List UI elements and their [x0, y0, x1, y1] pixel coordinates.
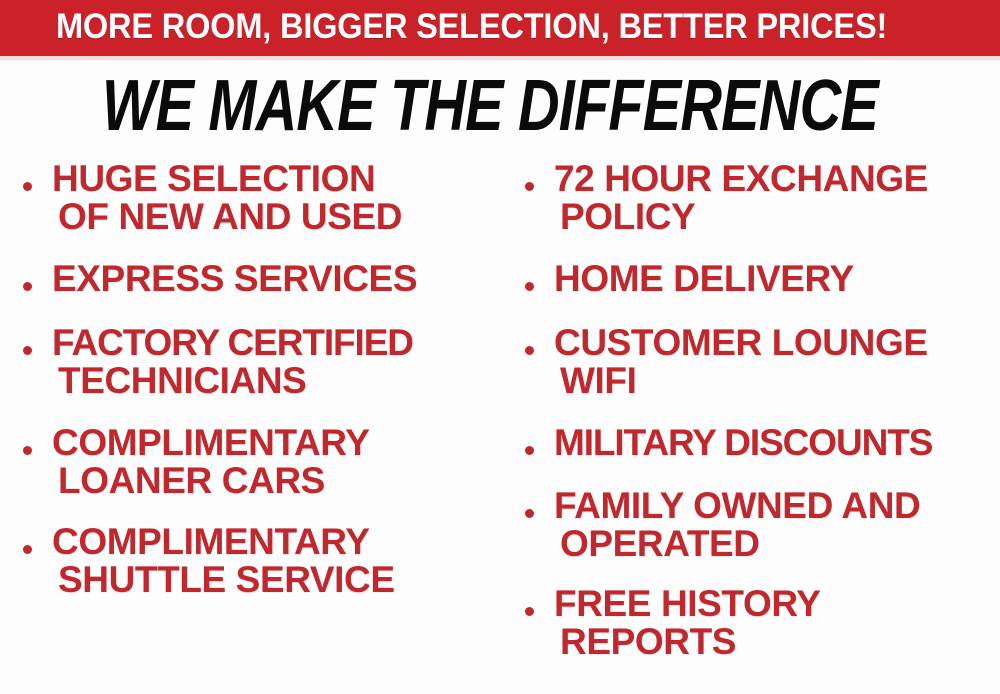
benefit-item-line: WIFI: [554, 362, 1000, 400]
benefit-item: HUGE SELECTIONOF NEW AND USED: [20, 160, 500, 236]
bullet-dot-icon: [525, 509, 534, 518]
benefit-item-text: FAMILY OWNED ANDOPERATED: [554, 487, 1000, 563]
benefit-item-text: FREE HISTORYREPORTS: [554, 585, 1000, 661]
benefit-item: EXPRESS SERVICES: [20, 260, 500, 298]
benefit-item-line: EXPRESS SERVICES: [52, 260, 500, 298]
bullet-dot-icon: [525, 446, 534, 455]
benefit-item-text: COMPLIMENTARYSHUTTLE SERVICE: [52, 523, 500, 599]
bullet-dot-icon: [525, 282, 534, 291]
benefit-item-line: CUSTOMER LOUNGE: [554, 324, 1000, 362]
benefit-item-line: HOME DELIVERY: [554, 260, 1000, 298]
benefit-item-text: MILITARY DISCOUNTS: [554, 424, 1000, 462]
benefit-item: COMPLIMENTARYSHUTTLE SERVICE: [20, 523, 500, 599]
benefit-item-text: HOME DELIVERY: [554, 260, 1000, 298]
benefit-item-text: EXPRESS SERVICES: [52, 260, 500, 298]
benefit-item: COMPLIMENTARYLOANER CARS: [20, 424, 500, 500]
bullet-dot-icon: [525, 346, 534, 355]
benefit-item: FREE HISTORYREPORTS: [522, 585, 1000, 661]
benefit-item-line: 72 HOUR EXCHANGE: [554, 160, 1000, 198]
promo-poster: MORE ROOM, BIGGER SELECTION, BETTER PRIC…: [0, 0, 1000, 694]
benefit-item-line: OPERATED: [554, 525, 1000, 563]
banner-underline-divider: [0, 56, 1000, 60]
benefit-item-text: COMPLIMENTARYLOANER CARS: [52, 424, 500, 500]
bullet-dot-icon: [525, 182, 534, 191]
top-banner: MORE ROOM, BIGGER SELECTION, BETTER PRIC…: [0, 0, 1000, 56]
benefit-item-line: POLICY: [554, 198, 1000, 236]
benefit-item-line: TECHNICIANS: [52, 362, 500, 400]
bullet-dot-icon: [23, 446, 32, 455]
benefit-item-line: SHUTTLE SERVICE: [52, 561, 500, 599]
bullet-dot-icon: [23, 545, 32, 554]
benefit-item: HOME DELIVERY: [522, 260, 1000, 298]
benefits-column-left: HUGE SELECTIONOF NEW AND USEDEXPRESS SER…: [20, 160, 500, 609]
bullet-dot-icon: [23, 282, 32, 291]
banner-headline-text: MORE ROOM, BIGGER SELECTION, BETTER PRIC…: [56, 8, 893, 46]
benefit-item-line: MILITARY DISCOUNTS: [554, 424, 1000, 462]
benefit-item-line: OF NEW AND USED: [52, 198, 500, 236]
bullet-dot-icon: [525, 607, 534, 616]
page-title: WE MAKE THE DIFFERENCE: [102, 73, 742, 139]
benefit-item-text: FACTORY CERTIFIEDTECHNICIANS: [52, 324, 500, 400]
benefit-item-line: REPORTS: [554, 623, 1000, 661]
benefit-item-line: LOANER CARS: [52, 462, 500, 500]
benefit-item-text: HUGE SELECTIONOF NEW AND USED: [52, 160, 500, 236]
benefit-item: 72 HOUR EXCHANGEPOLICY: [522, 160, 1000, 236]
benefit-item-text: 72 HOUR EXCHANGEPOLICY: [554, 160, 1000, 236]
bullet-dot-icon: [23, 346, 32, 355]
benefit-item: FACTORY CERTIFIEDTECHNICIANS: [20, 324, 500, 400]
benefit-item-line: FACTORY CERTIFIED: [52, 324, 500, 362]
benefit-item: CUSTOMER LOUNGEWIFI: [522, 324, 1000, 400]
benefit-item-line: FAMILY OWNED AND: [554, 487, 1000, 525]
bullet-dot-icon: [23, 182, 32, 191]
benefit-item-line: HUGE SELECTION: [52, 160, 500, 198]
benefits-column-right: 72 HOUR EXCHANGEPOLICYHOME DELIVERYCUSTO…: [522, 160, 1000, 671]
benefit-item-line: COMPLIMENTARY: [52, 424, 500, 462]
benefit-item: FAMILY OWNED ANDOPERATED: [522, 487, 1000, 563]
benefit-item-line: FREE HISTORY: [554, 585, 1000, 623]
benefit-item-text: CUSTOMER LOUNGEWIFI: [554, 324, 1000, 400]
benefit-item-line: COMPLIMENTARY: [52, 523, 500, 561]
benefit-item: MILITARY DISCOUNTS: [522, 424, 1000, 462]
